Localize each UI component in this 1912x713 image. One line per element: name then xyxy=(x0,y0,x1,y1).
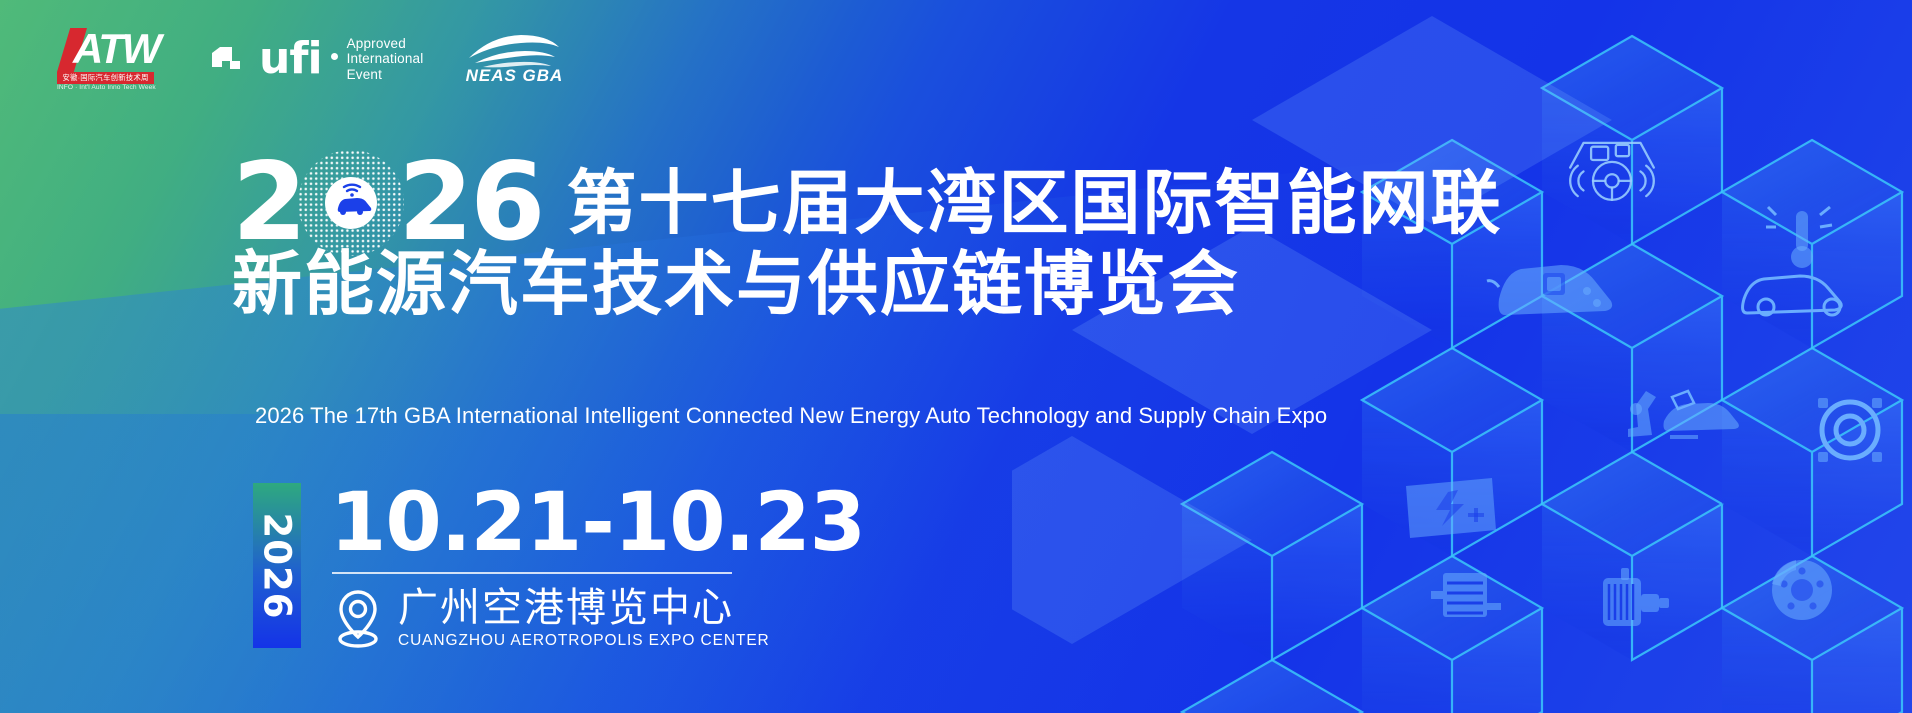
ufi-line-2: International xyxy=(347,51,424,67)
ufi-wordmark: ufi xyxy=(259,39,322,79)
logo-row: ATW 安徽·国际汽车创新技术周 INFO · Int'l Auto Inno … xyxy=(57,28,563,90)
venue-block: 广州空港博览中心 CUANGZHOU AEROTROPOLIS EXPO CEN… xyxy=(332,585,770,650)
battery-icon xyxy=(1406,478,1496,538)
isometric-cube-pattern xyxy=(1012,0,1912,713)
event-dates: 10.21-10.23 xyxy=(330,478,865,568)
ufi-mark-icon xyxy=(210,43,250,75)
headline-line-1: 2 xyxy=(232,148,1502,258)
divider-rule xyxy=(332,572,732,574)
neas-wordmark: NEAS GBA xyxy=(466,66,564,86)
event-banner: NEAS GBA ATW 安徽·国际汽车创新技术周 INFO · Int'l A… xyxy=(0,0,1912,713)
atw-wordmark: ATW xyxy=(73,27,160,71)
year-digits-26: 26 xyxy=(398,149,542,257)
venue-text: 广州空港博览中心 CUANGZHOU AEROTROPOLIS EXPO CEN… xyxy=(398,585,770,650)
neas-car-icon xyxy=(465,32,563,70)
headline-english-subtitle: 2026 The 17th GBA International Intellig… xyxy=(255,403,1327,429)
venue-name-chinese: 广州空港博览中心 xyxy=(398,585,770,631)
year-digit-2: 2 xyxy=(232,149,304,257)
year-tab-label: 2026 xyxy=(256,512,299,619)
atw-logo: ATW 安徽·国际汽车创新技术周 INFO · Int'l Auto Inno … xyxy=(57,28,154,90)
ufi-approval-text: Approved International Event xyxy=(347,36,424,83)
headline-chinese-line-2: 新能源汽车技术与供应链博览会 xyxy=(232,244,1240,324)
headline-chinese-line-1: 第十七届大湾区国际智能网联 xyxy=(566,163,1502,243)
location-pin-icon xyxy=(332,586,384,650)
connected-car-globe-icon xyxy=(298,150,404,256)
year-tab: 2026 xyxy=(253,483,301,648)
venue-name-english: CUANGZHOU AEROTROPOLIS EXPO CENTER xyxy=(398,632,770,650)
ufi-dot-icon xyxy=(331,53,338,60)
ufi-line-3: Event xyxy=(347,67,424,83)
neas-gba-logo: NEAS GBA xyxy=(465,32,563,86)
ufi-logo: ufi Approved International Event xyxy=(210,36,423,83)
brake-disc-icon xyxy=(1772,560,1832,620)
atw-chinese-strip: 安徽·国际汽车创新技术周 xyxy=(57,72,154,84)
atw-english-strip: INFO · Int'l Auto Inno Tech Week xyxy=(57,84,154,92)
ufi-line-1: Approved xyxy=(347,36,424,52)
